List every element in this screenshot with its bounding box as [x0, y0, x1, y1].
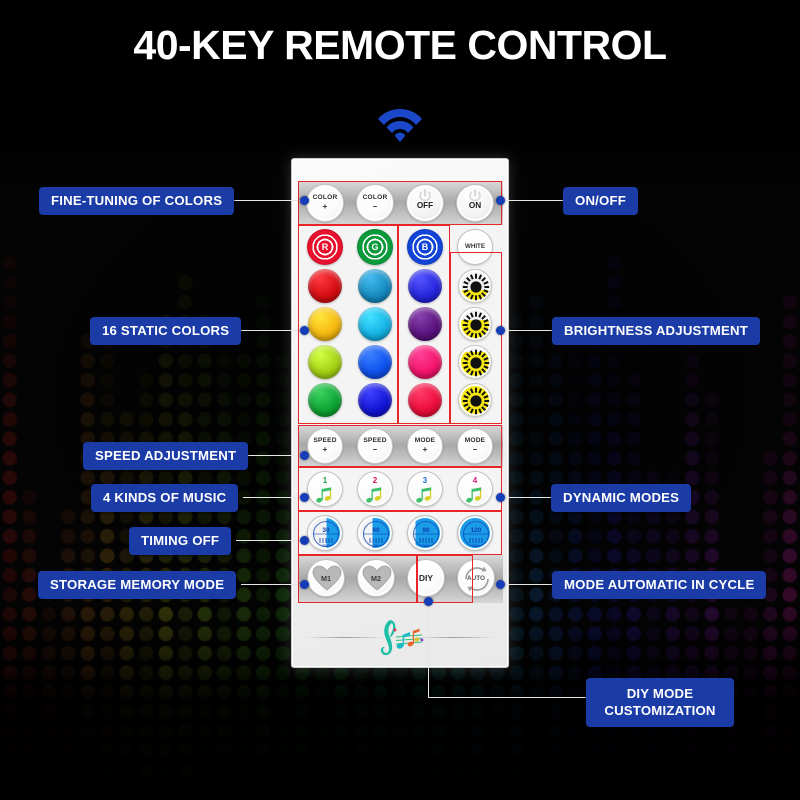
auto-button[interactable]: AUTO	[457, 559, 495, 597]
color-plus-button[interactable]: COLOR +	[306, 184, 344, 222]
power-icon	[419, 189, 432, 202]
connector-line-brightness	[503, 330, 552, 331]
label-4-kinds-of-music: 4 KINDS OF MUSIC	[91, 484, 238, 512]
remote-control-body: COLOR + COLOR – OFF ON R G B WHITE	[291, 158, 509, 668]
memory-2-button[interactable]: M2	[357, 559, 395, 597]
svg-text:30: 30	[322, 527, 330, 534]
white-button-label: WHITE	[465, 244, 485, 250]
static-color-9[interactable]	[408, 345, 442, 379]
off-button[interactable]: OFF	[406, 184, 444, 222]
connector-dot-music	[300, 493, 309, 502]
connector-line-on-off	[503, 200, 563, 201]
speed-minus-button-label: SPEED	[363, 438, 386, 445]
timer-120min-button[interactable]: 120 min	[457, 515, 493, 551]
blue-button-label: B	[407, 229, 443, 265]
diy-button-label: DIY	[419, 573, 433, 583]
diy-button[interactable]: DIY	[407, 559, 445, 597]
timer-60min-button[interactable]: 60 min	[357, 515, 393, 551]
connector-dot-fine-tuning	[300, 196, 309, 205]
infographic-stage: 40-KEY REMOTE CONTROL COLOR + COLOR –	[0, 0, 800, 800]
diy-label-line-1: DIY MODE	[627, 686, 694, 701]
diy-label-line-2: CUSTOMIZATION	[604, 703, 715, 718]
connector-line-music	[243, 497, 304, 498]
timer-90min-button[interactable]: 90 min	[407, 515, 443, 551]
music-mode-3-button-label: 3	[423, 476, 427, 485]
svg-text:90: 90	[422, 527, 430, 534]
label-fine-tuning-of-colors: FINE-TUNING OF COLORS	[39, 187, 234, 215]
connector-dot-on-off	[496, 196, 505, 205]
static-color-6[interactable]	[408, 307, 442, 341]
music-mode-4-button[interactable]: 4	[457, 471, 493, 507]
color-minus-button[interactable]: COLOR –	[356, 184, 394, 222]
remote-logo-area	[292, 607, 508, 667]
connector-line-auto-cycle	[503, 584, 552, 585]
mode-minus-button-sign: –	[473, 446, 477, 454]
memory-1-button-label: M1	[321, 574, 331, 583]
svg-text:min: min	[372, 543, 380, 548]
static-color-11[interactable]	[358, 383, 392, 417]
connector-dot-timing	[300, 536, 309, 545]
label-speed-adjustment: SPEED ADJUSTMENT	[83, 442, 248, 470]
label-timing-off: TIMING OFF	[129, 527, 231, 555]
red-button[interactable]: R	[307, 229, 343, 265]
clock-icon: 60 min	[358, 516, 393, 551]
music-note-logo-icon	[372, 617, 428, 659]
blue-button[interactable]: B	[407, 229, 443, 265]
clock-icon: 30 min	[308, 516, 343, 551]
sun-icon	[459, 384, 492, 417]
mode-plus-button-sign: +	[423, 446, 428, 454]
clock-icon: 120 min	[458, 516, 493, 551]
brightness-level-1[interactable]	[458, 269, 492, 303]
brightness-level-3[interactable]	[458, 345, 492, 379]
svg-text:min: min	[472, 543, 480, 548]
connector-line-fine-tuning	[232, 200, 304, 201]
label-storage-memory-mode: STORAGE MEMORY MODE	[38, 571, 236, 599]
connector-dot-speed	[300, 451, 309, 460]
color-minus-button-label: COLOR	[363, 195, 388, 202]
label-on-off: ON/OFF	[563, 187, 638, 215]
static-color-8[interactable]	[358, 345, 392, 379]
svg-text:60: 60	[372, 527, 380, 534]
svg-text:120: 120	[471, 527, 482, 534]
auto-button-label: AUTO	[458, 560, 494, 596]
static-color-10[interactable]	[308, 383, 342, 417]
timer-30min-button[interactable]: 30 min	[307, 515, 343, 551]
speed-minus-button[interactable]: SPEED –	[357, 428, 393, 464]
red-button-label: R	[307, 229, 343, 265]
brightness-level-4[interactable]	[458, 383, 492, 417]
music-mode-3-button[interactable]: 3	[407, 471, 443, 507]
music-note-icon	[466, 487, 486, 504]
green-button[interactable]: G	[357, 229, 393, 265]
brightness-level-2[interactable]	[458, 307, 492, 341]
green-button-label: G	[357, 229, 393, 265]
off-button-label: OFF	[417, 202, 433, 210]
color-plus-button-sign: +	[323, 203, 328, 211]
music-mode-2-button[interactable]: 2	[357, 471, 393, 507]
svg-text:min: min	[422, 543, 430, 548]
music-mode-1-button[interactable]: 1	[307, 471, 343, 507]
page-title: 40-KEY REMOTE CONTROL	[0, 22, 800, 69]
mode-minus-button-label: MODE	[465, 438, 486, 445]
connector-dot-static-colors	[300, 326, 309, 335]
static-color-3[interactable]	[408, 269, 442, 303]
music-note-icon	[416, 487, 436, 504]
label-dynamic-modes: DYNAMIC MODES	[551, 484, 691, 512]
color-minus-button-sign: –	[373, 203, 377, 211]
sun-icon	[459, 270, 492, 303]
connector-line-diy-vertical	[428, 602, 429, 698]
music-mode-1-button-label: 1	[323, 476, 327, 485]
connector-dot-auto-cycle	[496, 580, 505, 589]
label-diy-mode-customization: DIY MODE CUSTOMIZATION	[586, 678, 734, 727]
static-color-4[interactable]	[308, 307, 342, 341]
connector-dot-diy	[424, 597, 433, 606]
connector-line-dynamic-modes	[503, 497, 551, 498]
music-mode-2-button-label: 2	[373, 476, 377, 485]
static-color-5[interactable]	[358, 307, 392, 341]
static-color-7[interactable]	[308, 345, 342, 379]
label-mode-automatic-in-cycle: MODE AUTOMATIC IN CYCLE	[552, 571, 766, 599]
mode-minus-button[interactable]: MODE –	[457, 428, 493, 464]
static-color-2[interactable]	[358, 269, 392, 303]
speed-minus-button-sign: –	[373, 446, 377, 454]
connector-line-timing	[236, 540, 304, 541]
sun-icon	[459, 308, 492, 341]
connector-dot-storage	[300, 580, 309, 589]
music-mode-4-button-label: 4	[473, 476, 477, 485]
on-button[interactable]: ON	[456, 184, 494, 222]
color-plus-button-label: COLOR	[313, 195, 338, 202]
mode-plus-button-label: MODE	[415, 438, 436, 445]
connector-line-storage	[241, 584, 304, 585]
sun-icon	[459, 346, 492, 379]
connector-line-speed	[243, 455, 304, 456]
wifi-icon	[376, 103, 424, 143]
memory-2-button-label: M2	[371, 574, 381, 583]
static-color-12[interactable]	[408, 383, 442, 417]
remote-keypad: COLOR + COLOR – OFF ON R G B WHITE	[292, 159, 508, 667]
svg-text:min: min	[322, 543, 330, 548]
music-note-icon	[316, 487, 336, 504]
on-button-label: ON	[469, 202, 481, 210]
power-icon	[469, 189, 482, 202]
music-note-icon	[366, 487, 386, 504]
connector-line-static-colors	[232, 330, 304, 331]
connector-dot-brightness	[496, 326, 505, 335]
label-brightness-adjustment: BRIGHTNESS ADJUSTMENT	[552, 317, 760, 345]
memory-1-button[interactable]: M1	[307, 559, 345, 597]
connector-line-diy-horizontal	[428, 697, 586, 698]
speed-plus-button[interactable]: SPEED +	[307, 428, 343, 464]
connector-dot-dynamic-modes	[496, 493, 505, 502]
static-color-1[interactable]	[308, 269, 342, 303]
clock-icon: 90 min	[408, 516, 443, 551]
speed-plus-button-label: SPEED	[313, 438, 336, 445]
mode-plus-button[interactable]: MODE +	[407, 428, 443, 464]
white-button[interactable]: WHITE	[457, 229, 493, 265]
speed-plus-button-sign: +	[323, 446, 328, 454]
label-16-static-colors: 16 STATIC COLORS	[90, 317, 241, 345]
